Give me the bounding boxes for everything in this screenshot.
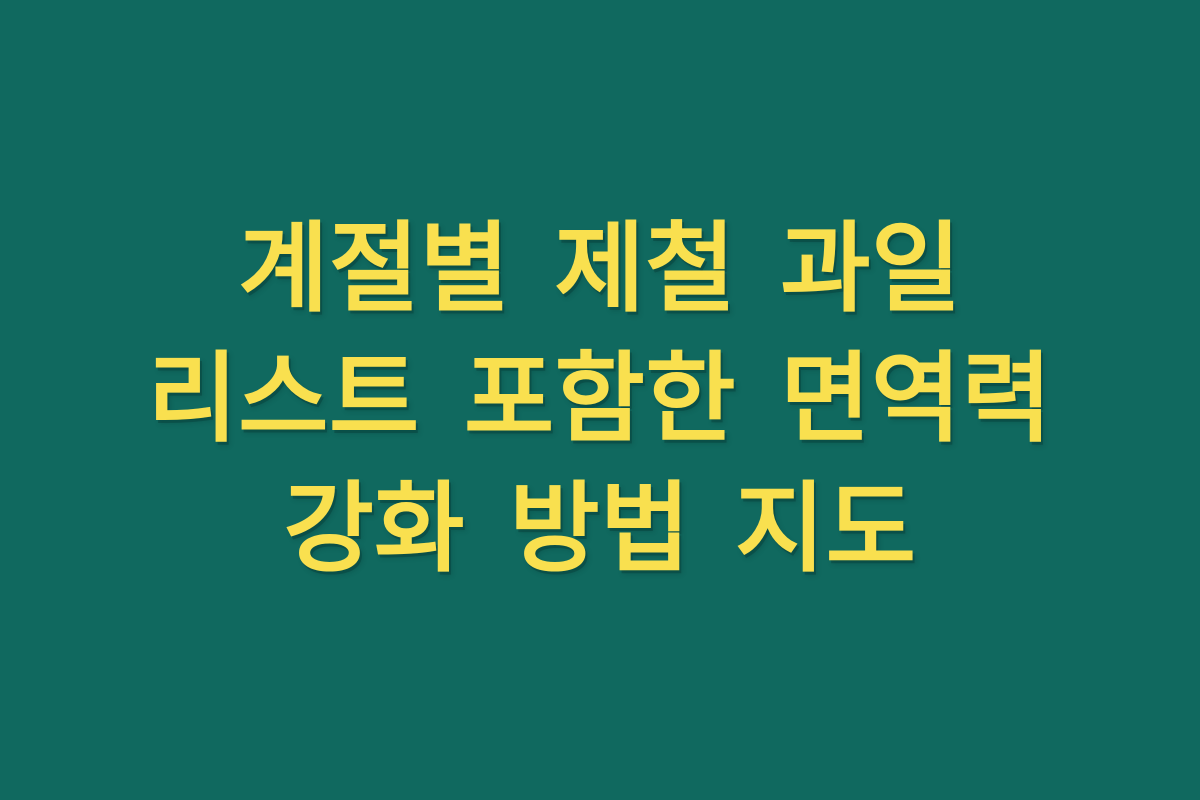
headline-block: 계절별 제철 과일 리스트 포함한 면역력 강화 방법 지도 [85,204,1115,595]
poster-canvas: 계절별 제철 과일 리스트 포함한 면역력 강화 방법 지도 [0,0,1200,800]
poster-headline: 계절별 제철 과일 리스트 포함한 면역력 강화 방법 지도 [85,204,1115,595]
